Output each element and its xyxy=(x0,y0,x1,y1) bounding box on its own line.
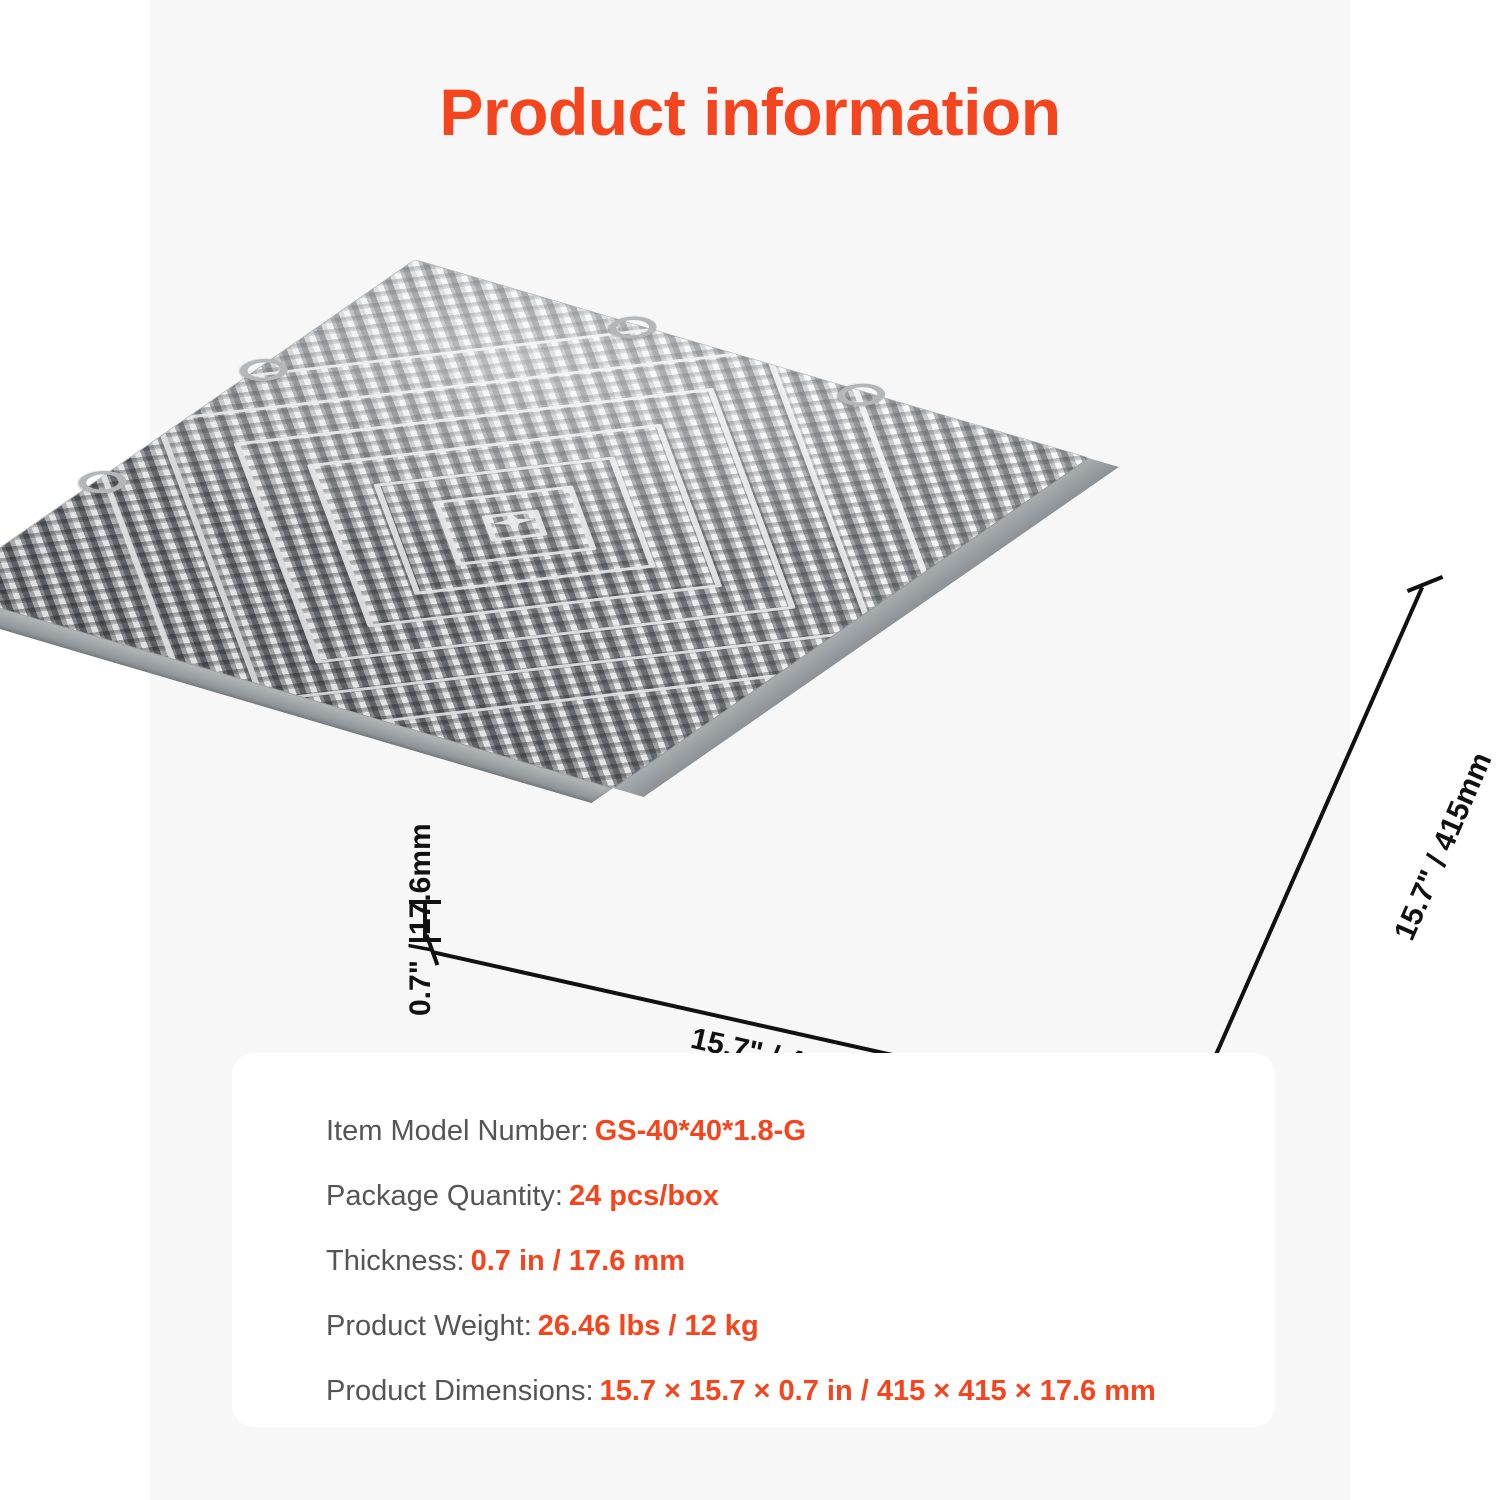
tile-top-surface xyxy=(0,260,1088,788)
spec-label: Item Model Number: xyxy=(326,1115,589,1147)
spec-row-item-model-number: Item Model Number:GS-40*40*1.8-G xyxy=(326,1099,1235,1164)
depth-dimension-cap-start xyxy=(1407,575,1444,593)
spec-row-product-dimensions: Product Dimensions:15.7 × 15.7 × 0.7 in … xyxy=(326,1359,1235,1424)
product-information-page: Product information xyxy=(0,0,1500,1500)
spec-label: Thickness: xyxy=(326,1245,465,1277)
page-title: Product information xyxy=(150,76,1350,149)
specification-list: Item Model Number:GS-40*40*1.8-G Package… xyxy=(326,1099,1235,1424)
spec-value: 15.7 × 15.7 × 0.7 in / 415 × 415 × 17.6 … xyxy=(600,1375,1156,1407)
tile-illustration xyxy=(150,190,1350,990)
spec-value: GS-40*40*1.8-G xyxy=(595,1115,806,1147)
spec-row-product-weight: Product Weight:26.46 lbs / 12 kg xyxy=(326,1294,1235,1359)
spec-row-thickness: Thickness:0.7 in / 17.6 mm xyxy=(326,1229,1235,1294)
spec-label: Product Dimensions: xyxy=(326,1375,594,1407)
spec-label: Product Weight: xyxy=(326,1310,532,1342)
spec-row-package-quantity: Package Quantity:24 pcs/box xyxy=(326,1164,1235,1229)
thickness-dimension-label: 0.7" / 17.6mm xyxy=(404,823,438,1016)
spec-value: 0.7 in / 17.6 mm xyxy=(471,1245,685,1277)
spec-label: Package Quantity: xyxy=(326,1180,563,1212)
spec-value: 26.46 lbs / 12 kg xyxy=(538,1310,759,1342)
spec-value: 24 pcs/box xyxy=(569,1180,719,1212)
depth-dimension-label: 15.7" / 415mm xyxy=(1388,748,1499,946)
specification-card: Item Model Number:GS-40*40*1.8-G Package… xyxy=(232,1053,1275,1427)
floor-tile xyxy=(0,260,1088,788)
product-image: 15.7" / 415mm 15.7" / 415mm 0.7" / 17.6m… xyxy=(150,190,1350,990)
